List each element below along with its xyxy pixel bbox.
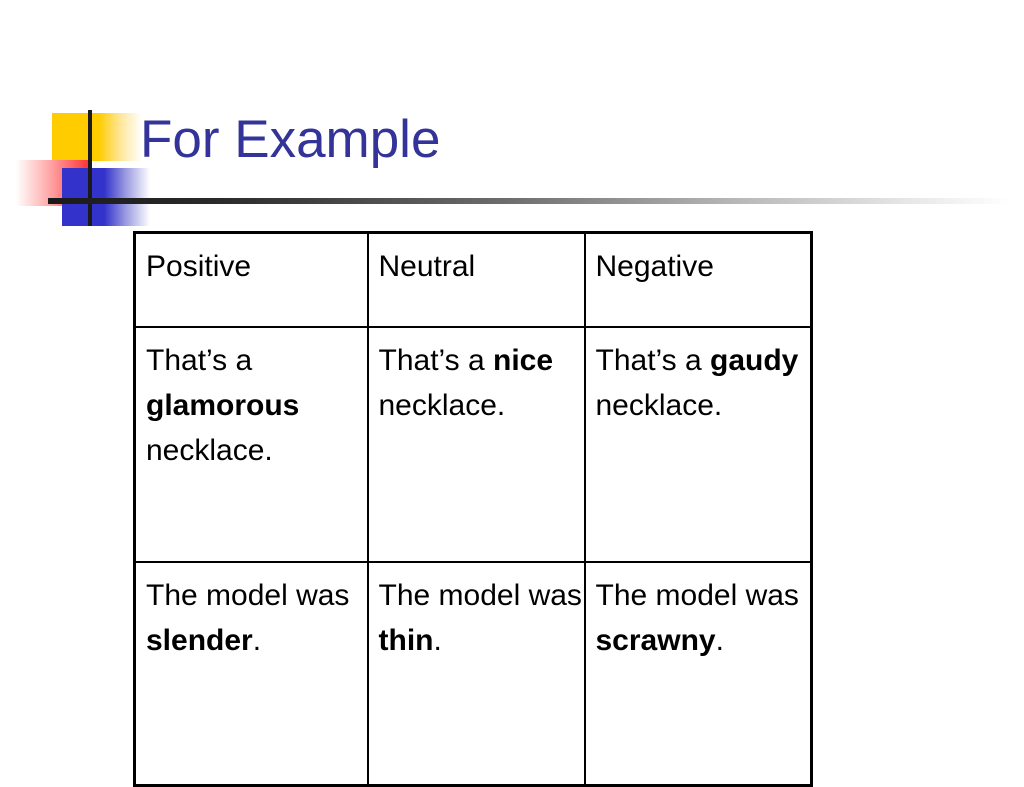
slide-canvas: For Example Positive Neutral Negative Th… <box>0 0 1024 768</box>
cell-text-bold: scrawny <box>596 624 716 657</box>
example-table: Positive Neutral Negative That’s a glamo… <box>133 231 813 787</box>
example-table-wrapper: Positive Neutral Negative That’s a glamo… <box>133 231 810 753</box>
cell-text-after: . <box>253 624 261 657</box>
cell-text-before: The model was <box>146 579 349 612</box>
cell-text-after: necklace. <box>146 434 273 467</box>
cell-text-before: The model was <box>596 579 799 612</box>
table-header-cell-positive: Positive <box>135 233 368 328</box>
page-title: For Example <box>140 104 440 176</box>
horizontal-rule-decoration <box>48 198 1010 204</box>
table-header-cell-neutral: Neutral <box>368 233 585 328</box>
cell-text-before: The model was <box>379 579 582 612</box>
cell-text-bold: thin <box>379 624 434 657</box>
cell-text-bold: glamorous <box>146 389 299 422</box>
cell-text-after: necklace. <box>379 389 506 422</box>
table-cell-positive-model: The model was slender. <box>135 562 368 786</box>
cell-text-before: That’s a <box>596 344 711 377</box>
table-header-cell-negative: Negative <box>585 233 812 328</box>
table-row-header: Positive Neutral Negative <box>135 233 812 328</box>
table-cell-negative-model: The model was scrawny. <box>585 562 812 786</box>
blue-square-decoration <box>62 168 150 226</box>
cell-text-after: necklace. <box>596 389 723 422</box>
cell-text-bold: gaudy <box>710 344 798 377</box>
table-cell-neutral-necklace: That’s a nice necklace. <box>368 327 585 562</box>
table-row: The model was slender. The model was thi… <box>135 562 812 786</box>
cell-text-before: That’s a <box>146 344 252 377</box>
table-cell-negative-necklace: That’s a gaudy necklace. <box>585 327 812 562</box>
yellow-square-decoration <box>52 113 142 161</box>
cell-text-before: That’s a <box>379 344 494 377</box>
vertical-rule-decoration <box>88 110 92 226</box>
table-row: That’s a glamorous necklace. That’s a ni… <box>135 327 812 562</box>
cell-text-bold: slender <box>146 624 253 657</box>
red-square-decoration <box>16 160 89 206</box>
cell-text-after: . <box>433 624 441 657</box>
table-cell-positive-necklace: That’s a glamorous necklace. <box>135 327 368 562</box>
table-cell-neutral-model: The model was thin. <box>368 562 585 786</box>
cell-text-bold: nice <box>493 344 553 377</box>
cell-text-after: . <box>716 624 724 657</box>
